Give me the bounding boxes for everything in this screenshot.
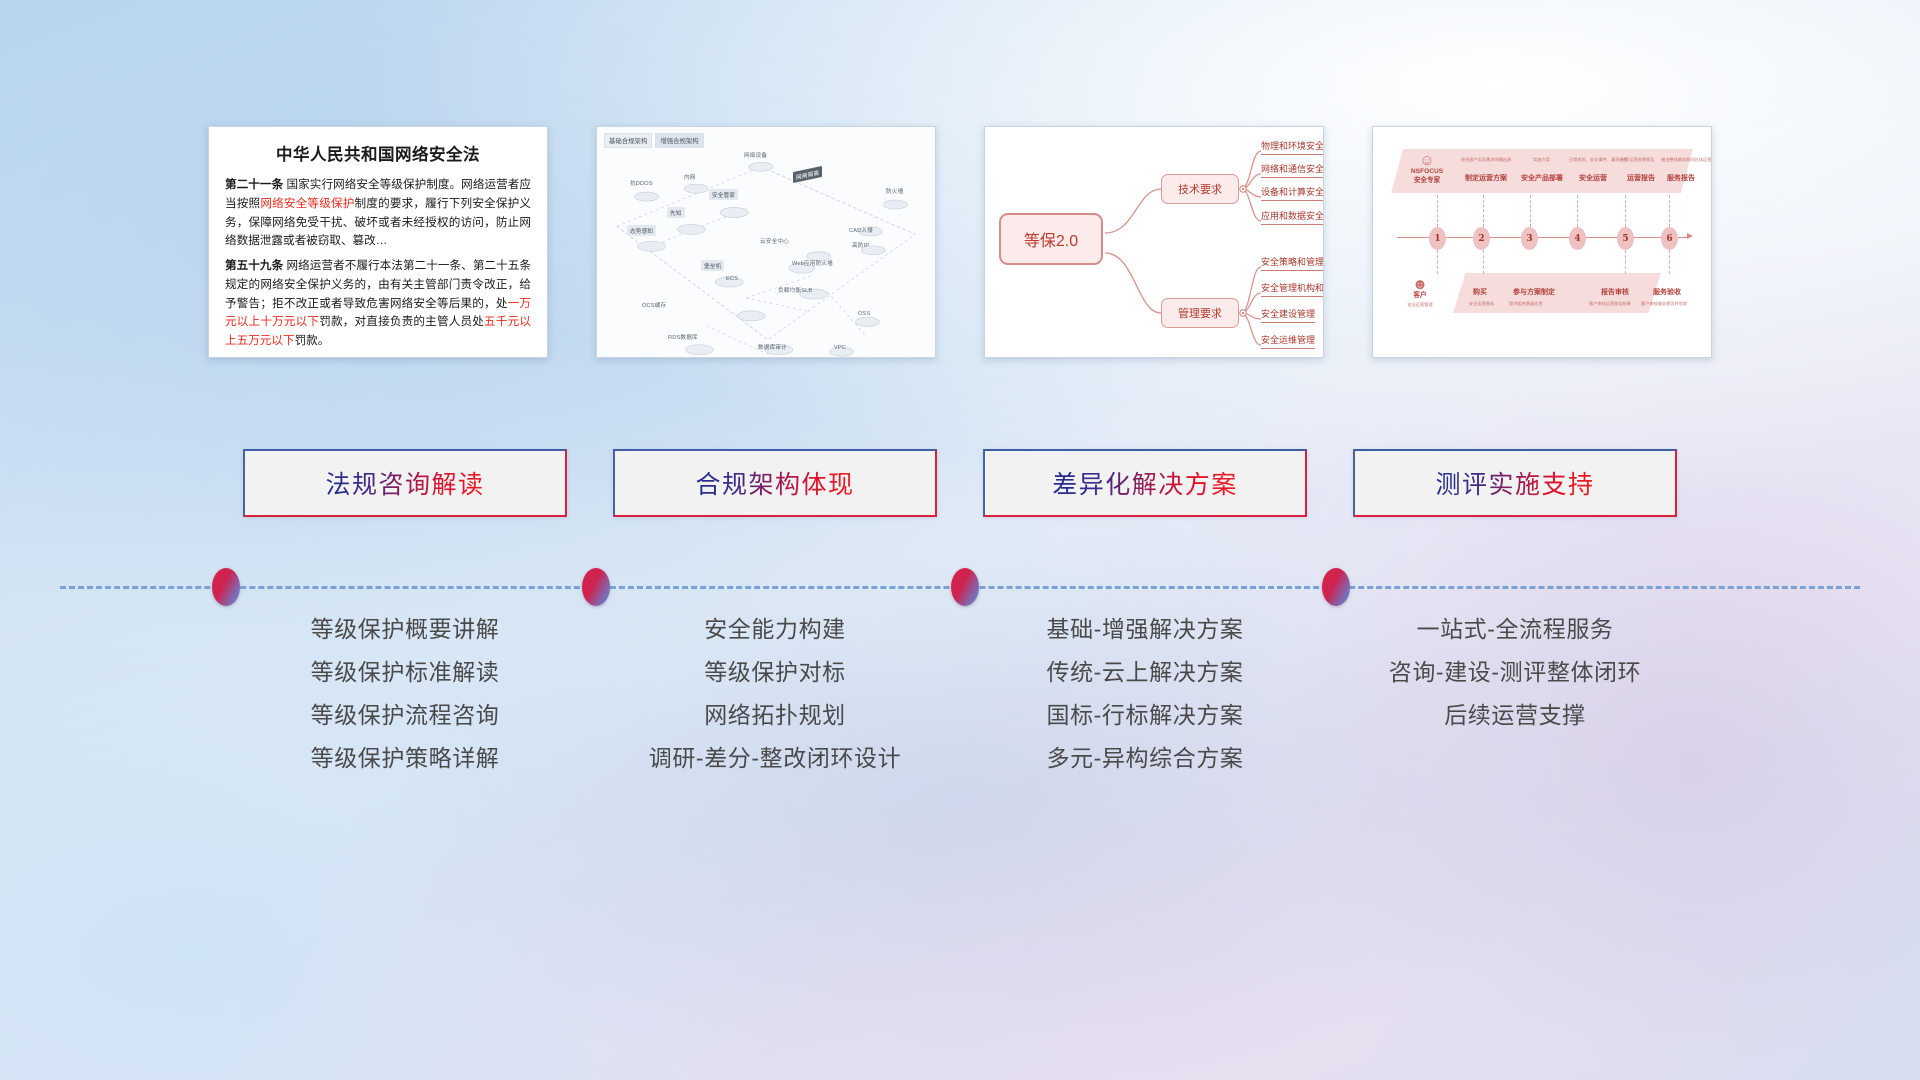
service-axis-arrow-icon xyxy=(1687,233,1693,239)
list-item: 等级保护对标 xyxy=(704,651,846,694)
service-timeline-diagram: ☺ NSFOCUS 安全专家 ☻ 客户 安全运营管理 结合客户实际需求明确出具 … xyxy=(1373,127,1711,357)
arch-node-waf: Web应用防火墙 xyxy=(789,257,836,268)
arch-node-situation-awareness: 态势感知 xyxy=(627,225,656,236)
arch-node-anti-ddos: 抗DDOS xyxy=(627,177,656,188)
law-article-59: 第五十九条 网络运营者不履行本法第二十一条、第二十五条规定的网络安全保护义务的，… xyxy=(225,257,531,351)
section-title-3: 差异化解决方案 xyxy=(1052,465,1238,501)
service-customer-persona: ☻ 客户 安全运营管理 xyxy=(1391,277,1449,310)
mindmap-leaf-policy-system: 安全策略和管理制度 xyxy=(1261,255,1324,271)
service-lower-sub-4: 客户审核服务报告并验收 xyxy=(1641,301,1687,307)
law-article-21-label: 第二十一条 xyxy=(225,178,283,191)
service-lower-label-2: 参与方案制定 xyxy=(1513,287,1555,297)
section-title-box-1[interactable]: 法规咨询解读 xyxy=(243,449,567,517)
law-article-21-highlight: 网络安全等级保护 xyxy=(260,197,354,210)
arch-node-intranet: 内网 xyxy=(681,171,699,182)
architecture-diagram: 基础合规架构 增强合规架构 xyxy=(597,127,935,357)
service-lower-sub-3: 客户审核运营报告结果 xyxy=(1589,301,1631,307)
arch-node-cloud-security: 云安全中心 xyxy=(757,235,792,246)
timeline-connector xyxy=(60,568,1860,606)
mindmap-root-node: 等保2.0 xyxy=(999,213,1103,265)
section-title-box-2[interactable]: 合规架构体现 xyxy=(613,449,937,517)
section-list-2: 安全能力构建 等级保护对标 网络拓扑规划 调研-差分-整改闭环设计 xyxy=(613,604,937,780)
arch-node-network-device: 网络设备 xyxy=(741,149,770,160)
thumbnail-service-card[interactable]: ☺ NSFOCUS 安全专家 ☻ 客户 安全运营管理 结合客户实际需求明确出具 … xyxy=(1372,126,1712,358)
section-title-box-4[interactable]: 测评实施支持 xyxy=(1353,449,1677,517)
list-item: 国标-行标解决方案 xyxy=(1046,694,1243,737)
person-icon: ☺ xyxy=(1399,153,1455,168)
section-list-row: 等级保护概要讲解 等级保护标准解读 等级保护流程咨询 等级保护策略详解 安全能力… xyxy=(0,604,1920,780)
timeline-dot-3 xyxy=(951,568,979,606)
mindmap-leaf-physical-env: 物理和环境安全 xyxy=(1261,139,1324,155)
mindmap-branch-technical: 技术要求 xyxy=(1161,174,1239,204)
service-node-1: 1 xyxy=(1429,227,1446,250)
service-stem-low-3 xyxy=(1625,250,1626,274)
timeline-dot-2 xyxy=(582,568,610,606)
service-customer-role: 客户 xyxy=(1413,292,1426,299)
mindmap-diagram: 等保2.0 技术要求 管理要求 物理和环境安全 网络和通信安全 设备和计算安全 … xyxy=(985,127,1323,357)
mindmap-leaf-device-compute: 设备和计算安全 xyxy=(1261,185,1324,201)
service-upper-sub-4: 针对运营效果报告 xyxy=(1621,157,1655,163)
thumbnail-mindmap-card[interactable]: 等保2.0 技术要求 管理要求 物理和环境安全 网络和通信安全 设备和计算安全 … xyxy=(984,126,1324,358)
service-stem-4 xyxy=(1577,195,1578,227)
list-item: 等级保护流程咨询 xyxy=(311,694,500,737)
list-item: 等级保护策略详解 xyxy=(311,737,500,780)
list-item: 咨询-建设-测评整体闭环 xyxy=(1389,651,1642,694)
person-check-icon: ☻ xyxy=(1391,277,1449,292)
arch-node-slb: 负载均衡SLB xyxy=(775,284,815,295)
arch-node-rds: RDS数据库 xyxy=(665,331,701,342)
section-list-1: 等级保护概要讲解 等级保护标准解读 等级保护流程咨询 等级保护策略详解 xyxy=(243,604,567,780)
arch-node-firewall: 防火墙 xyxy=(883,185,906,196)
arch-node-vpc: VPC xyxy=(831,343,849,352)
mindmap-branch-management: 管理要求 xyxy=(1161,298,1239,328)
service-stem-5 xyxy=(1625,195,1626,227)
service-upper-sub-2: 实施方案 xyxy=(1533,157,1550,163)
section-title-4: 测评实施支持 xyxy=(1435,465,1594,501)
service-upper-label-3: 安全运营 xyxy=(1579,173,1607,183)
law-article-21: 第二十一条 国家实行网络安全等级保护制度。网络运营者应当按照网络安全等级保护制度… xyxy=(225,176,531,251)
mindmap-leaf-ops-mgmt: 安全运维管理 xyxy=(1261,333,1315,349)
list-item: 调研-差分-整改闭环设计 xyxy=(649,737,902,780)
law-article-59-part3: 罚款。 xyxy=(295,334,330,347)
service-expert-name: NSFOCUS xyxy=(1411,168,1443,175)
service-stem-low-1 xyxy=(1437,250,1438,274)
service-node-3: 3 xyxy=(1521,227,1538,250)
arch-node-anti-ddos-ip: 高防IP xyxy=(849,239,872,250)
mindmap-leaf-build-mgmt: 安全建设管理 xyxy=(1261,307,1315,323)
thumbnail-row: 中华人民共和国网络安全法 第二十一条 国家实行网络安全等级保护制度。网络运营者应… xyxy=(0,126,1920,358)
list-item: 基础-增强解决方案 xyxy=(1046,608,1243,651)
service-lower-label-4: 服务验收 xyxy=(1653,287,1681,297)
service-lower-label-3: 报告审核 xyxy=(1601,287,1629,297)
service-expert-persona: ☺ NSFOCUS 安全专家 xyxy=(1399,153,1455,186)
law-content: 中华人民共和国网络安全法 第二十一条 国家实行网络安全等级保护制度。网络运营者应… xyxy=(209,127,547,358)
arch-node-ocs-cache: OCS缓存 xyxy=(639,299,669,310)
mindmap-leaf-app-data: 应用和数据安全 xyxy=(1261,209,1324,225)
service-node-5: 5 xyxy=(1617,227,1634,250)
service-stem-low-2 xyxy=(1483,250,1484,274)
list-item: 网络拓扑规划 xyxy=(704,694,846,737)
service-customer-sub: 安全运营管理 xyxy=(1407,302,1432,307)
mindmap-leaf-org-personnel: 安全管理机构和人员 xyxy=(1261,281,1324,297)
list-item: 等级保护标准解读 xyxy=(311,651,500,694)
service-node-4: 4 xyxy=(1569,227,1586,250)
law-article-59-part2: 罚款，对直接负责的主管人员处 xyxy=(319,315,484,328)
service-stem-3 xyxy=(1530,195,1531,227)
arch-node-security-steward: 安全管家 xyxy=(709,189,738,200)
service-lower-label-1: 购买 xyxy=(1473,287,1487,297)
list-item: 等级保护概要讲解 xyxy=(311,608,500,651)
slide-page: 中华人民共和国网络安全法 第二十一条 国家实行网络安全等级保护制度。网络运营者应… xyxy=(0,0,1920,1080)
service-upper-label-1: 制定运营方案 xyxy=(1465,173,1507,183)
arch-node-foresight: 先知 xyxy=(667,207,685,218)
service-upper-label-2: 安全产品部署 xyxy=(1521,173,1563,183)
section-list-4: 一站式-全流程服务 咨询-建设-测评整体闭环 后续运营支撑 xyxy=(1353,604,1677,780)
arch-node-oss: OSS xyxy=(855,309,873,318)
law-article-59-label: 第五十九条 xyxy=(225,259,283,272)
section-title-2: 合规架构体现 xyxy=(695,465,854,501)
arch-node-cad-ids: CAD入侵 xyxy=(846,224,876,235)
timeline-dot-1 xyxy=(212,568,240,606)
arch-node-ecs: ECS xyxy=(723,274,741,283)
service-stem-2 xyxy=(1483,195,1484,227)
service-stem-6 xyxy=(1669,195,1670,227)
section-title-1: 法规咨询解读 xyxy=(325,465,484,501)
service-lower-sub-2: 提供相关基础信息 xyxy=(1509,301,1543,307)
section-title-row: 法规咨询解读 合规架构体现 差异化解决方案 测评实施支持 xyxy=(0,449,1920,517)
mindmap-leaf-network-comm: 网络和通信安全 xyxy=(1261,162,1324,178)
arch-node-db-audit: 数据库审计 xyxy=(755,341,790,352)
service-node-6: 6 xyxy=(1661,227,1678,250)
service-upper-sub-1: 结合客户实际需求明确出具 xyxy=(1461,157,1511,163)
service-upper-label-5: 服务报告 xyxy=(1667,173,1695,183)
service-upper-sub-3: 日常巡检、安全事件、漏洞处置 xyxy=(1569,157,1628,163)
service-node-2: 2 xyxy=(1473,227,1490,250)
list-item: 传统-云上解决方案 xyxy=(1046,651,1243,694)
section-list-3: 基础-增强解决方案 传统-云上解决方案 国标-行标解决方案 多元-异构综合方案 xyxy=(983,604,1307,780)
list-item: 一站式-全流程服务 xyxy=(1416,608,1613,651)
service-upper-label-4: 运营报告 xyxy=(1627,173,1655,183)
service-stem-1 xyxy=(1437,195,1438,227)
list-item: 安全能力构建 xyxy=(704,608,846,651)
service-upper-sub-5: 输出整体服务期间总体运营效果 xyxy=(1661,157,1712,163)
timeline-dot-4 xyxy=(1322,568,1350,606)
service-expert-role: 安全专家 xyxy=(1414,177,1440,184)
service-stem-low-4 xyxy=(1669,250,1670,274)
list-item: 多元-异构综合方案 xyxy=(1046,737,1243,780)
service-lower-sub-1: 安全运营服务 xyxy=(1469,301,1494,307)
law-title: 中华人民共和国网络安全法 xyxy=(225,141,531,165)
thumbnail-law-card[interactable]: 中华人民共和国网络安全法 第二十一条 国家实行网络安全等级保护制度。网络运营者应… xyxy=(208,126,548,358)
thumbnail-architecture-card[interactable]: 基础合规架构 增强合规架构 xyxy=(596,126,936,358)
section-title-box-3[interactable]: 差异化解决方案 xyxy=(983,449,1307,517)
list-item: 后续运营支撑 xyxy=(1444,694,1586,737)
arch-node-bastion-host: 堡垒机 xyxy=(701,260,724,271)
